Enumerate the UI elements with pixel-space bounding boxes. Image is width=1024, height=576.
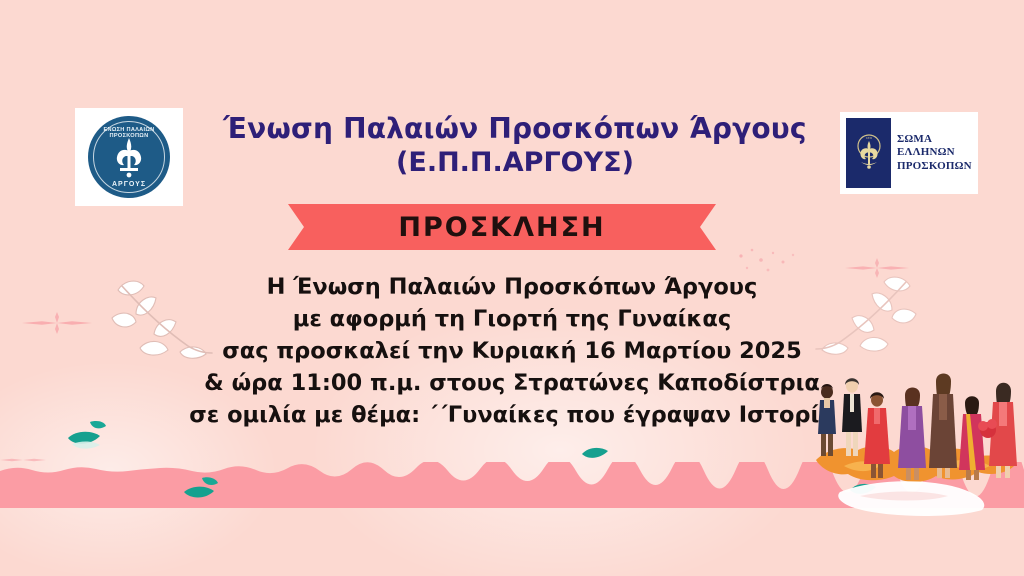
leaf-icon [180,474,224,508]
ribbon-label: ΠΡΟΣΚΛΗΣΗ [288,202,716,252]
invitation-poster: ΕΝΩΣΗ ΠΑΛΑΙΩΝ ΠΡΟΣΚΟΠΩΝ ΑΡΓΟΥΣ ΣΕΠ ΣΩΜΑ … [0,0,1024,576]
woman-figure [959,396,985,480]
body-line: Η Ένωση Παλαιών Προσκόπων Άργους [92,272,932,304]
soma-ellinon-proskopon-logo: ΣΕΠ ΣΩΜΑ ΕΛΛΗΝΩΝ ΠΡΟΣΚΟΠΩΝ [840,112,978,194]
women-on-world-map-illustration [800,368,1024,518]
woman-figure [818,384,836,456]
title-line-2: (Ε.Π.Π.ΑΡΓΟΥΣ) [195,147,835,179]
woman-figure [898,388,926,481]
logo-disc: ΕΝΩΣΗ ΠΑΛΑΙΩΝ ΠΡΟΣΚΟΠΩΝ ΑΡΓΟΥΣ [88,116,170,198]
invitation-ribbon: ΠΡΟΣΚΛΗΣΗ [288,202,716,252]
scout-badge-icon: ΣΕΠ [846,118,891,188]
logo-right-line1: ΣΩΜΑ [897,133,972,146]
body-line: σας προσκαλεί την Κυριακή 16 Μαρτίου 202… [92,336,932,368]
logo-arc-top-text: ΕΝΩΣΗ ΠΑΛΑΙΩΝ ΠΡΟΣΚΟΠΩΝ [88,127,170,139]
epp-argous-logo: ΕΝΩΣΗ ΠΑΛΑΙΩΝ ΠΡΟΣΚΟΠΩΝ ΑΡΓΟΥΣ [75,108,183,206]
sparkle-icon [0,452,46,468]
svg-text:ΣΕΠ: ΣΕΠ [866,136,873,140]
body-line: με αφορμή τη Γιορτή της Γυναίκας [92,304,932,336]
woman-figure [842,378,862,456]
logo-right-line3: ΠΡΟΣΚΟΠΩΝ [897,160,972,173]
title-line-1: Ένωση Παλαιών Προσκόπων Άργους [195,112,835,145]
logo-arc-bottom-text: ΑΡΓΟΥΣ [88,181,170,188]
woman-figure [929,374,957,479]
sparkle-icon [22,312,92,334]
scout-emblem-icon: ΣΕΠ [852,133,886,173]
logo-right-line2: ΕΛΛΗΝΩΝ [897,146,972,159]
leaf-icon [580,442,610,464]
page-title: Ένωση Παλαιών Προσκόπων Άργους (Ε.Π.Π.ΑΡ… [195,112,835,179]
logo-right-text: ΣΩΜΑ ΕΛΛΗΝΩΝ ΠΡΟΣΚΟΠΩΝ [897,133,972,173]
